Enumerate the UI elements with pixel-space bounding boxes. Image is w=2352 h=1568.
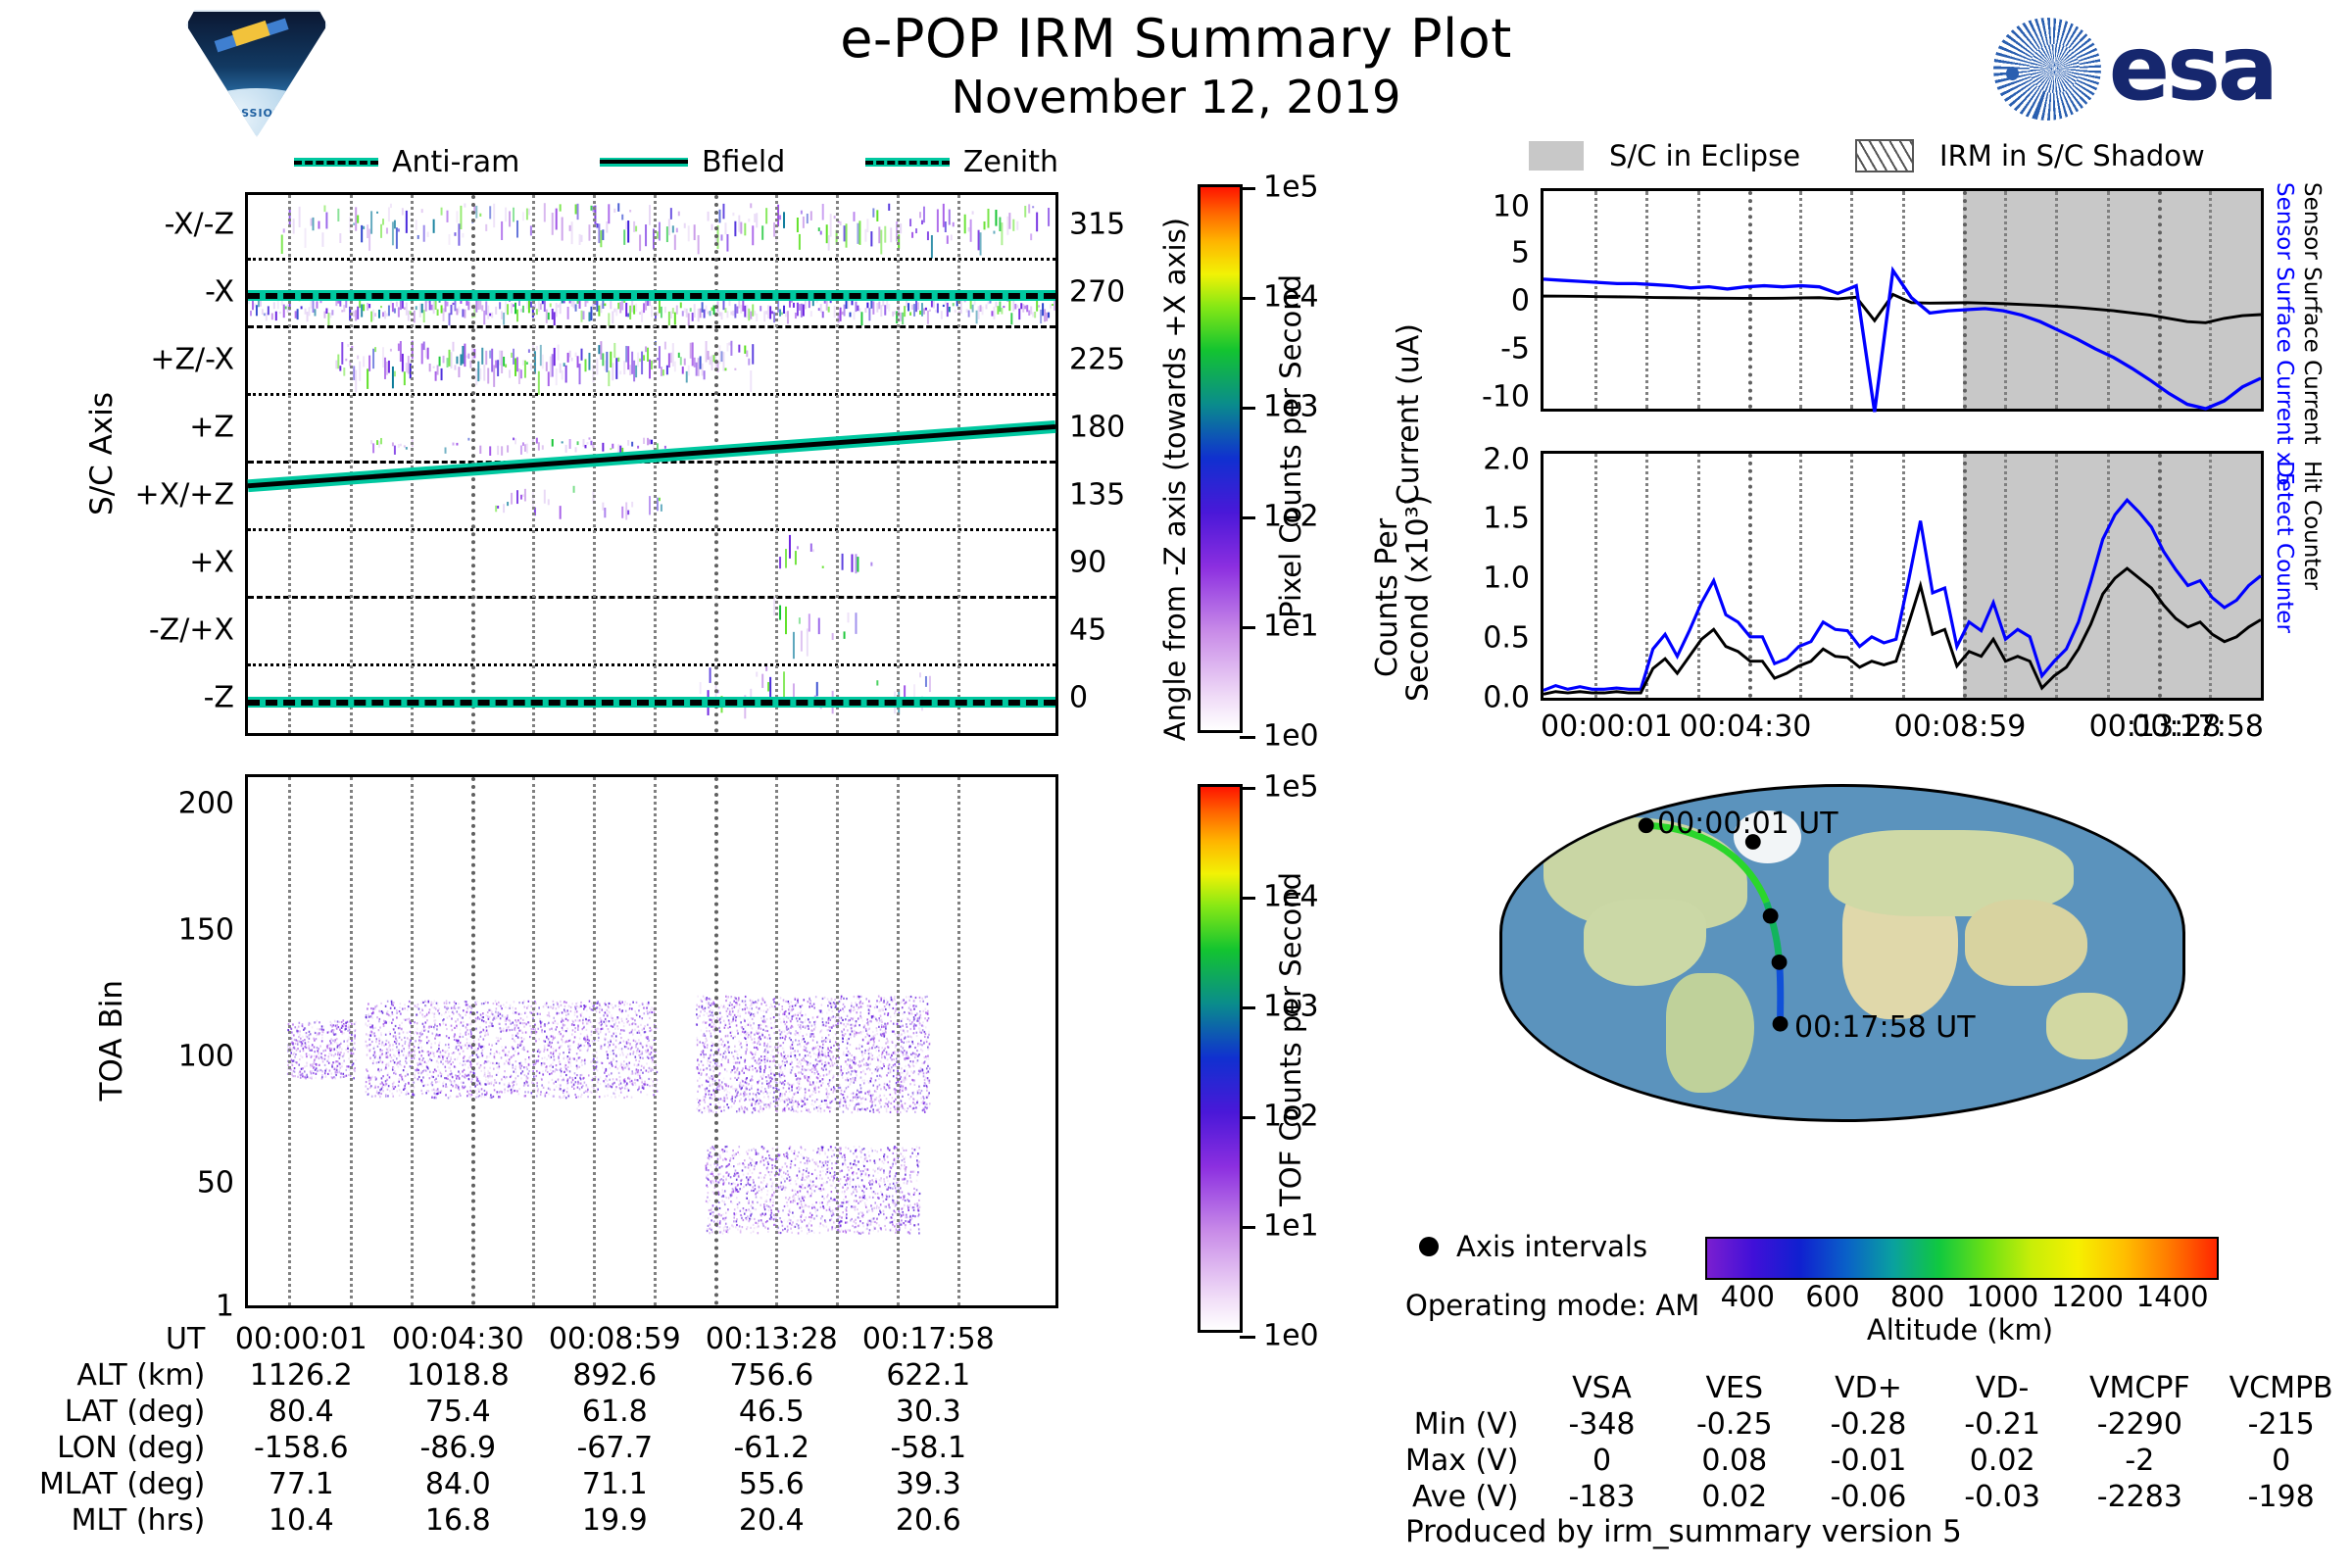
shading-legend: S/C in Eclipse IRM in S/C Shadow [1529, 139, 2205, 172]
current-panel[interactable]: 10 5 0 -5 -10 [1541, 188, 2264, 412]
spec-angle-5: 90 [1069, 546, 1106, 580]
current-ytick-3: -5 [1500, 332, 1530, 367]
ephem-cell: 80.4 [222, 1394, 379, 1430]
voltage-cell: -0.03 [1935, 1479, 2070, 1515]
spec-angle-4: 135 [1069, 478, 1125, 513]
cb1-tick-5: 1e0 [1263, 719, 1319, 754]
pixel-counts-colorbar[interactable]: 1e5 1e4 1e3 1e2 1e1 1e0 [1198, 184, 1243, 733]
ephem-cell: -86.9 [379, 1430, 536, 1466]
ephem-cell: 39.3 [850, 1466, 1006, 1502]
dash-dot-line-icon [865, 158, 950, 167]
spec-angle-3: 180 [1069, 411, 1125, 445]
current-ytick-1: 5 [1511, 236, 1530, 270]
ground-track-map[interactable]: 00:00:01 UT 00:17:58 UT [1499, 784, 2185, 1122]
cb2-tick-4: 1e1 [1263, 1209, 1319, 1244]
voltage-cell: 0 [1537, 1443, 1668, 1479]
voltage-cell: 0.02 [1935, 1443, 2070, 1479]
ephem-row-label: LON (deg) [39, 1430, 222, 1466]
zenith-overlay-dashdot [248, 700, 1055, 706]
orientation-legend: Anti-ram Bfield Zenith [294, 145, 1058, 179]
voltage-cell: -183 [1537, 1479, 1668, 1515]
current-right-label-black: Sensor Surface Current [2299, 182, 2325, 444]
spec-ytick-4: +X/+Z [135, 478, 234, 513]
altitude-tick-label: 600 [1805, 1280, 1859, 1313]
bfield-overlay-line [248, 195, 1055, 733]
spec-angle-1: 270 [1069, 275, 1125, 310]
toa-bin-panel[interactable]: 200 150 100 50 1 [245, 774, 1058, 1308]
legend-label-shadow: IRM in S/C Shadow [1939, 139, 2205, 172]
ephem-cell: 00:13:28 [693, 1321, 850, 1357]
spec-angle-0: 315 [1069, 208, 1125, 242]
ephem-row-label: MLT (hrs) [39, 1502, 222, 1539]
voltage-column-header: VD+ [1801, 1370, 1935, 1406]
ephem-cell: 19.9 [536, 1502, 693, 1539]
current-ytick-0: 10 [1493, 190, 1530, 224]
voltage-cell: -0.25 [1667, 1406, 1801, 1443]
table-row: LON (deg)-158.6-86.9-67.7-61.2-58.1 [39, 1430, 1006, 1466]
voltage-row-label: Ave (V) [1405, 1479, 1537, 1515]
table-row: MLT (hrs)10.416.819.920.420.6 [39, 1502, 1006, 1539]
current-ytick-4: -10 [1482, 380, 1530, 415]
counts-right-label-black: Hit Counter [2299, 461, 2325, 590]
ephem-cell: 20.4 [693, 1502, 850, 1539]
orbit-track [1502, 787, 2182, 1119]
ephem-cell: 71.1 [536, 1466, 693, 1502]
toa-ytick-1: 150 [178, 913, 234, 948]
ephem-cell: 1018.8 [379, 1357, 536, 1394]
current-right-label-blue: Sensor Surface Current x 5 [2272, 182, 2297, 486]
ephem-cell: -158.6 [222, 1430, 379, 1466]
spec-ytick-6: -Z/+X [149, 613, 234, 648]
esa-swirl-icon [1993, 18, 2101, 121]
altitude-colorbar[interactable] [1705, 1237, 2219, 1280]
table-row: ALT (km)1126.21018.8892.6756.6622.1 [39, 1357, 1006, 1394]
right-time-tick: 00:04:30 [1680, 710, 1812, 744]
voltage-cell: -0.28 [1801, 1406, 1935, 1443]
voltage-cell: -348 [1537, 1406, 1668, 1443]
altitude-colorbar-ticks: 400600800100012001400 [1705, 1280, 2215, 1313]
cassiope-badge-label: CASSIOPE [188, 107, 325, 120]
right-time-axis: 00:00:0100:04:3000:08:5900:13:2800:17:58 [1541, 710, 2264, 745]
voltage-cell: -2290 [2069, 1406, 2210, 1443]
table-row: Max (V)00.08-0.010.02-20 [1405, 1443, 2352, 1479]
toa-ytick-2: 100 [178, 1040, 234, 1074]
counts-traces [1543, 454, 2261, 698]
counts-ytick-1: 1.5 [1483, 502, 1530, 536]
voltage-corner-cell [1405, 1370, 1537, 1406]
toa-ytick-3: 50 [197, 1166, 234, 1200]
legend-label-bfield: Bfield [702, 145, 785, 179]
counts-panel[interactable]: 2.0 1.5 1.0 0.5 0.0 [1541, 451, 2264, 701]
table-row: UT00:00:0100:04:3000:08:5900:13:2800:17:… [39, 1321, 1006, 1357]
altitude-colorbar-label: Altitude (km) [1705, 1313, 2215, 1347]
voltage-cell: -0.06 [1801, 1479, 1935, 1515]
toa-ylabel: TOA Bin [94, 980, 129, 1101]
footer-produced-by: Produced by irm_summary version 5 [1405, 1514, 1962, 1549]
ephem-cell: 20.6 [850, 1502, 1006, 1539]
altitude-tick-label: 800 [1890, 1280, 1944, 1313]
voltage-column-header: VMCPF [2069, 1370, 2210, 1406]
ephem-cell: -61.2 [693, 1430, 850, 1466]
counts-ylabel: Counts Per Second (x10³) [1372, 485, 1434, 710]
altitude-tick-label: 1000 [1966, 1280, 2038, 1313]
ephem-cell: -67.7 [536, 1430, 693, 1466]
cb1-tick-0: 1e5 [1263, 171, 1319, 205]
axis-intervals-legend: Axis intervals [1419, 1230, 1647, 1263]
altitude-tick-label: 400 [1721, 1280, 1775, 1313]
ephem-row-label: ALT (km) [39, 1357, 222, 1394]
map-end-time-label: 00:17:58 UT [1794, 1010, 1976, 1045]
voltage-cell: 0.08 [1667, 1443, 1801, 1479]
spec-ytick-0: -X/-Z [165, 208, 234, 242]
cb2-tick-5: 1e0 [1263, 1319, 1319, 1353]
ephem-cell: 622.1 [850, 1357, 1006, 1394]
voltage-column-header: VD- [1935, 1370, 2070, 1406]
table-row: MLAT (deg)77.184.071.155.639.3 [39, 1466, 1006, 1502]
counts-right-label-blue: Detect Counter [2272, 461, 2297, 633]
solid-line-icon [600, 158, 688, 167]
spec-ytick-2: +Z/-X [150, 343, 234, 377]
current-traces [1543, 191, 2261, 409]
altitude-tick-label: 1200 [2051, 1280, 2124, 1313]
ephem-cell: 10.4 [222, 1502, 379, 1539]
ephem-cell: 1126.2 [222, 1357, 379, 1394]
ephem-cell: 77.1 [222, 1466, 379, 1502]
voltage-cell: -198 [2210, 1479, 2352, 1515]
shadow-hatch-swatch-icon [1855, 139, 1914, 172]
esa-wordmark: esa [2109, 28, 2276, 110]
cassiope-mission-badge: CASSIOPE [186, 10, 323, 137]
voltage-column-header: VSA [1537, 1370, 1668, 1406]
ephem-cell: 00:00:01 [222, 1321, 379, 1357]
voltage-column-header: VES [1667, 1370, 1801, 1406]
ephem-row-label: UT [39, 1321, 222, 1357]
tof-counts-colorbar[interactable]: 1e5 1e4 1e3 1e2 1e1 1e0 [1198, 784, 1243, 1333]
legend-item-anti-ram: Anti-ram [294, 145, 519, 179]
ephem-cell: 892.6 [536, 1357, 693, 1394]
voltage-cell: -2 [2069, 1443, 2210, 1479]
toa-ytick-0: 200 [178, 787, 234, 821]
ephem-cell: 00:08:59 [536, 1321, 693, 1357]
right-time-tick: 00:08:59 [1894, 710, 2027, 744]
ephem-cell: 30.3 [850, 1394, 1006, 1430]
voltage-cell: -2283 [2069, 1479, 2210, 1515]
spec-angle-2: 225 [1069, 343, 1125, 377]
ephem-cell: 00:04:30 [379, 1321, 536, 1357]
current-ylabel: Current (uA) [1392, 323, 1426, 505]
table-row: Ave (V)-1830.02-0.06-0.03-2283-198 [1405, 1479, 2352, 1515]
voltage-cell: 0 [2210, 1443, 2352, 1479]
counts-ytick-0: 2.0 [1483, 443, 1530, 477]
operating-mode-label: Operating mode: AM [1405, 1289, 1699, 1322]
voltage-table: VSAVESVD+VD-VMCPFVCMPB Min (V)-348-0.25-… [1405, 1370, 2352, 1515]
voltage-cell: -215 [2210, 1406, 2352, 1443]
axis-intervals-label: Axis intervals [1456, 1230, 1647, 1263]
table-row: LAT (deg)80.475.461.846.530.3 [39, 1394, 1006, 1430]
ephem-row-label: LAT (deg) [39, 1394, 222, 1430]
ephem-cell: 61.8 [536, 1394, 693, 1430]
cb2-tick-0: 1e5 [1263, 770, 1319, 805]
counts-ytick-4: 0.0 [1483, 681, 1530, 715]
table-row: Min (V)-348-0.25-0.28-0.21-2290-215 [1405, 1406, 2352, 1443]
voltage-cell: -0.21 [1935, 1406, 2070, 1443]
spectrogram-ylabel: S/C Axis [84, 392, 120, 515]
spectrogram-right-axis-label: Angle from -Z axis (towards +X axis) [1158, 218, 1192, 741]
satellite-icon [231, 21, 269, 46]
voltage-cell: -0.01 [1801, 1443, 1935, 1479]
toa-scatter-image [248, 777, 1055, 1305]
ephem-cell: 00:17:58 [850, 1321, 1006, 1357]
dashed-line-icon [294, 158, 378, 167]
ephemeris-table: UT00:00:0100:04:3000:08:5900:13:2800:17:… [39, 1321, 1006, 1539]
pixel-counts-colorbar-label: Pixel Counts per Second [1274, 274, 1307, 618]
altitude-tick-label: 1400 [2136, 1280, 2209, 1313]
current-ytick-2: 0 [1511, 284, 1530, 318]
ephem-cell: 55.6 [693, 1466, 850, 1502]
ephem-row-label: MLAT (deg) [39, 1466, 222, 1502]
legend-label-anti-ram: Anti-ram [392, 145, 519, 179]
ephem-cell: -58.1 [850, 1430, 1006, 1466]
ephem-cell: 756.6 [693, 1357, 850, 1394]
voltage-row-label: Min (V) [1405, 1406, 1537, 1443]
legend-item-zenith: Zenith [865, 145, 1058, 179]
map-start-time-label: 00:00:01 UT [1657, 807, 1838, 841]
voltage-cell: 0.02 [1667, 1479, 1801, 1515]
esa-logo: esa [1993, 14, 2276, 123]
spec-ytick-1: -X [205, 275, 234, 310]
ephem-cell: 46.5 [693, 1394, 850, 1430]
toa-ytick-4: 1 [216, 1290, 234, 1324]
spec-ytick-5: +X [189, 546, 234, 580]
spec-ytick-3: +Z [189, 411, 234, 445]
legend-label-eclipse: S/C in Eclipse [1609, 139, 1800, 172]
right-time-tick: 00:17:58 [2131, 710, 2264, 744]
ephem-cell: 75.4 [379, 1394, 536, 1430]
right-time-tick: 00:00:01 [1541, 710, 1673, 744]
voltage-row-label: Max (V) [1405, 1443, 1537, 1479]
eclipse-swatch-icon [1529, 141, 1584, 171]
counts-ytick-2: 1.0 [1483, 562, 1530, 596]
spec-angle-6: 45 [1069, 613, 1106, 648]
interval-dot-icon [1419, 1237, 1439, 1256]
ephem-cell: 84.0 [379, 1466, 536, 1502]
counts-ytick-3: 0.5 [1483, 621, 1530, 656]
ephem-cell: 16.8 [379, 1502, 536, 1539]
table-header-row: VSAVESVD+VD-VMCPFVCMPB [1405, 1370, 2352, 1406]
voltage-column-header: VCMPB [2210, 1370, 2352, 1406]
legend-label-zenith: Zenith [963, 145, 1058, 179]
tof-counts-colorbar-label: TOF Counts per Second [1274, 872, 1307, 1206]
spec-angle-7: 0 [1069, 681, 1088, 715]
spectrogram-panel[interactable]: -X/-Z -X +Z/-X +Z +X/+Z +X -Z/+X -Z 315 … [245, 192, 1058, 736]
legend-item-bfield: Bfield [600, 145, 785, 179]
spec-ytick-7: -Z [204, 681, 234, 715]
